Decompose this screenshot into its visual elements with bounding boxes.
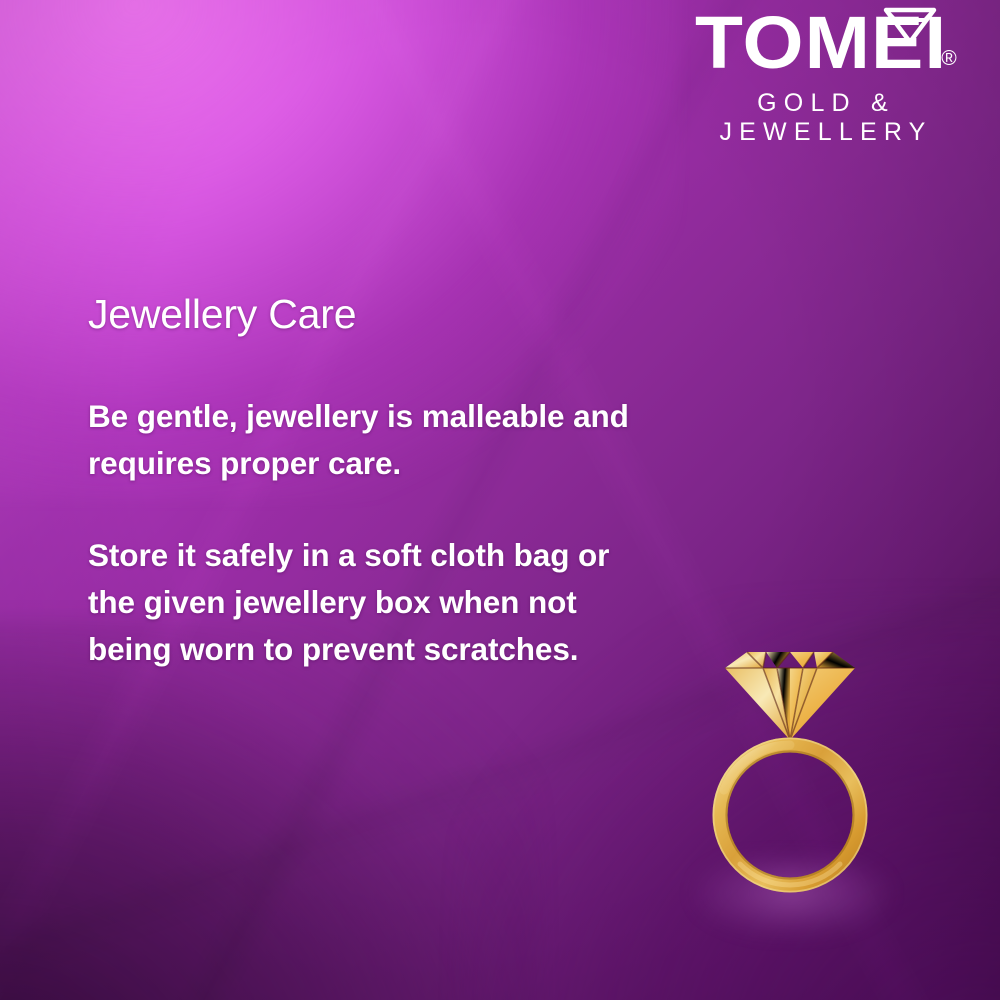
page-title: Jewellery Care [88,292,648,337]
brand-wordmark-row: TOMEI® [662,6,984,80]
care-tip-paragraph-1: Be gentle, jewellery is malleable and re… [88,393,648,487]
copy-block: Jewellery Care Be gentle, jewellery is m… [88,292,648,673]
care-tip-paragraph-2: Store it safely in a soft cloth bag or t… [88,532,648,673]
ring-band-icon [713,738,866,891]
gem-icon [725,652,855,740]
brand-tagline: GOLD & JEWELLERY [662,89,984,147]
brand-logo: TOMEI® GOLD & JEWELLERY [662,6,984,147]
diamond-ring-illustration [690,640,890,940]
jewellery-care-graphic: TOMEI® GOLD & JEWELLERY Jewellery Care B… [0,0,1000,1000]
brand-wordmark: TOMEI [695,6,947,80]
